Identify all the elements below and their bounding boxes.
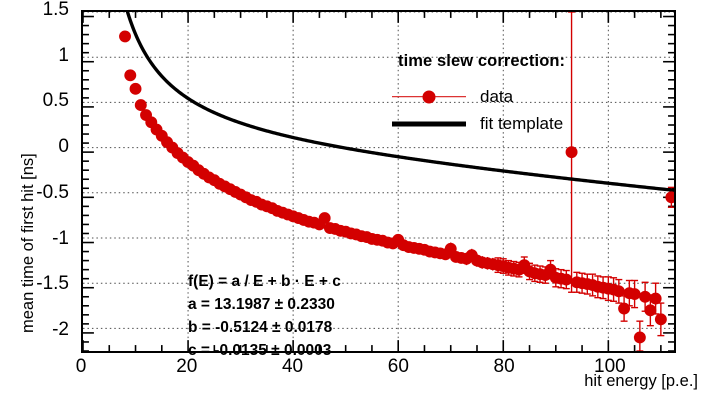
data-point <box>566 146 578 158</box>
chart-root: mean time of first hit [ns] 1.510.50-0.5… <box>0 0 706 406</box>
x-tick-label: 40 <box>282 357 303 376</box>
data-point <box>634 332 646 344</box>
y-tick-label: 1.5 <box>43 0 76 19</box>
x-tick-label: 60 <box>388 357 409 376</box>
data-marker-icon <box>388 87 470 107</box>
data-point <box>613 285 625 297</box>
fit-param-a: a = 13.1987 ± 0.2330 <box>188 293 341 316</box>
data-point <box>655 313 667 325</box>
y-tick-label: -2 <box>52 320 76 339</box>
legend: time slew correction: data fit template <box>388 52 628 137</box>
fit-formula: f(E) = a / E + b · E + c <box>188 270 341 293</box>
data-point <box>130 83 142 95</box>
x-tick-label: 80 <box>494 357 515 376</box>
legend-entry-data: data <box>388 83 628 110</box>
data-point <box>560 274 572 286</box>
x-tick-label: 20 <box>176 357 197 376</box>
legend-label-data: data <box>480 87 513 107</box>
data-point <box>618 303 630 315</box>
fit-param-b: b = -0.5124 ± 0.0178 <box>188 316 341 339</box>
data-point <box>650 293 662 305</box>
data-point <box>644 304 656 316</box>
legend-title: time slew correction: <box>398 52 628 71</box>
y-tick-label: 0 <box>58 137 76 156</box>
x-axis-title: hit energy [p.e.] <box>584 372 698 391</box>
data-point <box>639 291 651 303</box>
x-tick-label: 0 <box>76 357 87 376</box>
y-tick-label: -1 <box>52 229 76 248</box>
y-tick-label: 1 <box>58 46 76 65</box>
y-tick-label: -1.5 <box>36 274 76 293</box>
data-point <box>124 69 136 81</box>
data-point <box>119 30 131 42</box>
fit-parameters-box: f(E) = a / E + b · E + c a = 13.1987 ± 0… <box>188 270 341 362</box>
y-tick-label: 0.5 <box>43 91 76 110</box>
data-point <box>629 288 641 300</box>
data-point <box>665 191 674 203</box>
legend-entry-fit: fit template <box>388 110 628 137</box>
y-axis-tick-labels: 1.510.50-0.5-1-1.5-2 <box>0 10 76 353</box>
y-tick-label: -0.5 <box>36 183 76 202</box>
legend-label-fit: fit template <box>480 114 563 134</box>
fit-line-icon <box>388 114 470 134</box>
plot-area: time slew correction: data fit template … <box>81 10 676 353</box>
